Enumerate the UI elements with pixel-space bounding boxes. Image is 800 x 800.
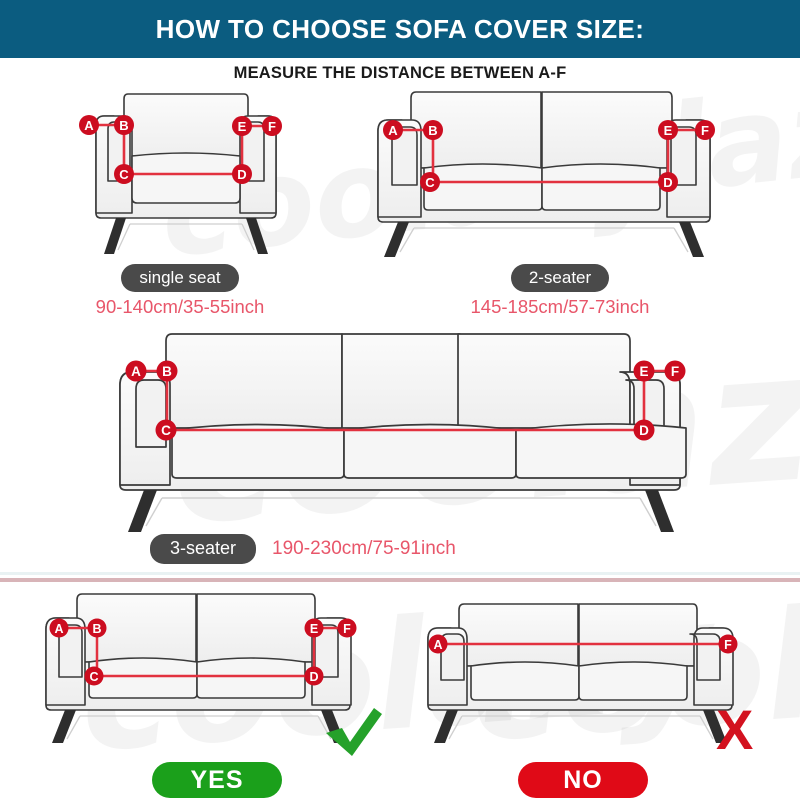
page-header: HOW TO CHOOSE SOFA COVER SIZE:	[0, 0, 800, 58]
marker-label-b: B	[428, 123, 437, 138]
page-title: HOW TO CHOOSE SOFA COVER SIZE:	[156, 14, 645, 45]
marker-label-d: D	[639, 423, 649, 438]
marker-label-b: B	[119, 118, 128, 133]
dimension-single-seat: 90-140cm/35-55inch	[60, 296, 300, 318]
marker-label-c: C	[119, 167, 129, 182]
marker-label-f: F	[671, 364, 679, 379]
caption-single-seat: single seat 90-140cm/35-55inch	[60, 264, 300, 318]
verdict-no-badge: NO	[518, 762, 648, 798]
marker-label-a: A	[131, 364, 141, 379]
diagram-two-seater: A B C D E F	[368, 86, 730, 266]
diagram-single-seat: A B C D E F	[60, 86, 312, 266]
verdict-yes-badge: YES	[152, 762, 282, 798]
diagram-correct-measurement: A B C D E F	[38, 588, 368, 748]
label-three-seater: 3-seater	[150, 534, 256, 564]
marker-label-f: F	[268, 119, 276, 134]
marker-label-f: F	[701, 123, 709, 138]
dimension-three-seater: 190-230cm/75-91inch	[272, 538, 456, 560]
label-single-seat: single seat	[121, 264, 238, 292]
marker-label-a: A	[433, 638, 442, 652]
marker-label-c: C	[89, 670, 98, 684]
diagram-three-seater: A B C D E F	[92, 328, 710, 528]
page-subtitle: MEASURE THE DISTANCE BETWEEN A-F	[0, 64, 800, 83]
check-mark-icon	[322, 706, 384, 758]
marker-label-a: A	[84, 118, 94, 133]
marker-label-c: C	[161, 423, 171, 438]
diagram-incorrect-measurement: A F	[420, 588, 750, 748]
marker-label-e: E	[238, 119, 247, 134]
marker-label-c: C	[425, 175, 435, 190]
marker-label-b: B	[162, 364, 172, 379]
marker-label-a: A	[388, 123, 398, 138]
caption-two-seater: 2-seater 145-185cm/57-73inch	[400, 264, 720, 318]
section-divider	[0, 578, 800, 582]
marker-label-d: D	[663, 175, 672, 190]
divider-highlight	[0, 572, 800, 575]
marker-label-d: D	[309, 670, 318, 684]
marker-label-d: D	[237, 167, 246, 182]
marker-label-b: B	[92, 622, 101, 636]
cross-mark-x-icon: X	[716, 702, 753, 758]
marker-label-e: E	[639, 364, 648, 379]
dimension-two-seater: 145-185cm/57-73inch	[400, 296, 720, 318]
marker-label-f: F	[724, 638, 732, 652]
marker-label-f: F	[343, 622, 351, 636]
label-two-seater: 2-seater	[511, 264, 609, 292]
marker-label-a: A	[54, 622, 63, 636]
caption-three-seater: 3-seater 190-230cm/75-91inch	[150, 534, 650, 564]
marker-label-e: E	[310, 622, 318, 636]
marker-label-e: E	[664, 123, 673, 138]
